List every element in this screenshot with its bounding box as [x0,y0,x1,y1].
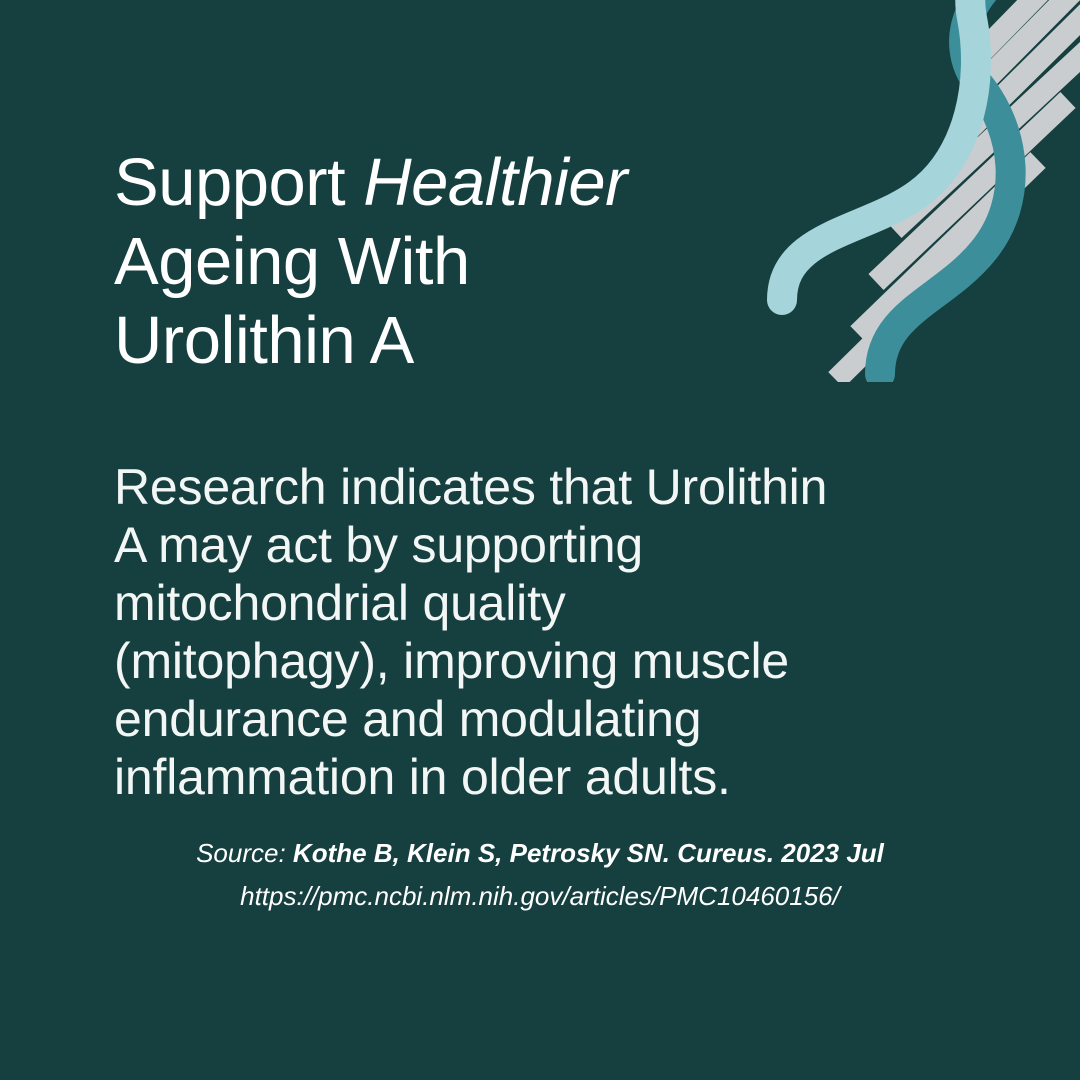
dna-strand-light [782,0,1078,300]
headline-emphasis-healthier: Healthier [363,145,627,220]
headline-line-1-plain: Support [114,145,363,220]
headline-line-2: Ageing With [114,222,814,301]
body-line-3: mitochondrial quality [114,574,974,632]
citation-reference: Kothe B, Klein S, Petrosky SN. Cureus. 2… [293,838,884,868]
body-line-1: Research indicates that Urolithin [114,458,974,516]
body-line-6: inflammation in older adults. [114,748,974,806]
body-line-5: endurance and modulating [114,690,974,748]
citation-url[interactable]: https://pmc.ncbi.nlm.nih.gov/articles/PM… [0,875,1080,918]
promo-card: Support Healthier Ageing With Urolithin … [0,0,1080,1080]
body-line-4: (mitophagy), improving muscle [114,632,974,690]
dna-rungs [836,0,1080,380]
dna-strand-teal [880,0,1048,374]
headline-line-3: Urolithin A [114,301,814,380]
headline-line-1: Support Healthier [114,143,814,222]
body-line-2: A may act by supporting [114,516,974,574]
citation-reference-line: Source: Kothe B, Klein S, Petrosky SN. C… [0,832,1080,875]
source-citation: Source: Kothe B, Klein S, Petrosky SN. C… [0,832,1080,918]
citation-source-label: Source: [196,838,293,868]
page-title: Support Healthier Ageing With Urolithin … [114,143,814,380]
body-paragraph: Research indicates that Urolithin A may … [114,458,974,806]
